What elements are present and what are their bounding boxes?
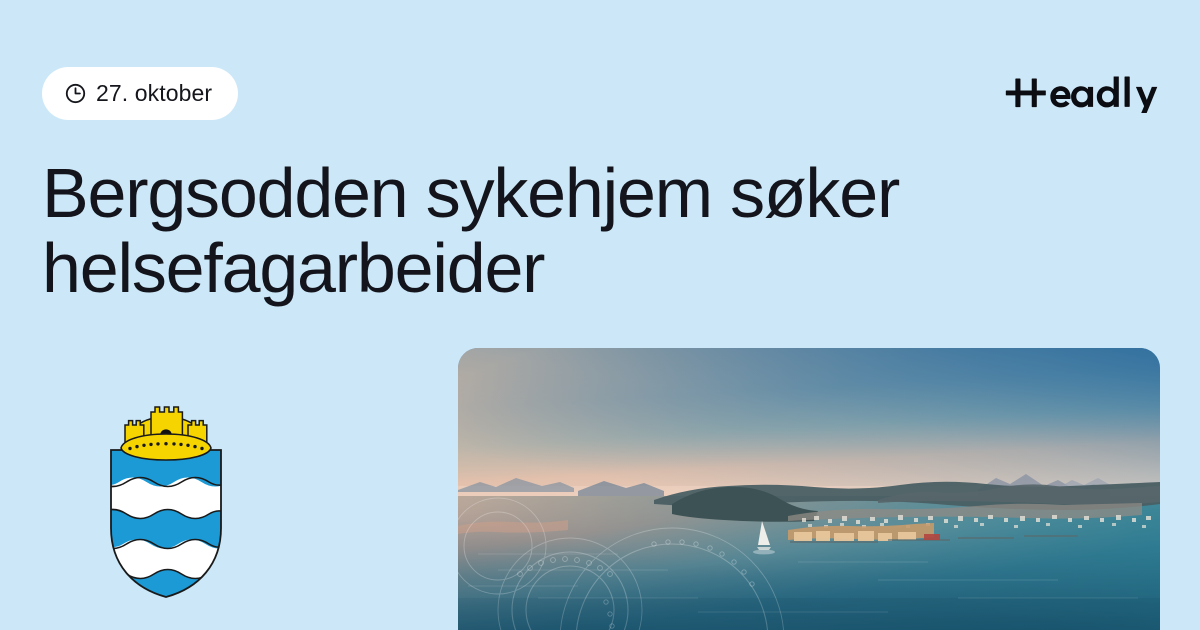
clock-icon bbox=[64, 82, 87, 105]
hero-image bbox=[458, 348, 1160, 630]
date-badge: 27. oktober bbox=[42, 67, 238, 120]
headly-wordmark-icon bbox=[1004, 73, 1160, 113]
date-label: 27. oktober bbox=[96, 82, 212, 105]
social-share-card: 27. oktober Bergsodden sykehjem søk bbox=[0, 0, 1200, 630]
coat-of-arms bbox=[103, 398, 229, 604]
headly-logo[interactable] bbox=[1004, 71, 1160, 115]
page-title: Bergsodden sykehjem søker helsefagarbeid… bbox=[42, 156, 1082, 306]
harstad-coat-of-arms-icon bbox=[103, 398, 229, 604]
coastal-town-sunset-aerial-icon bbox=[458, 348, 1160, 630]
card-header: 27. oktober bbox=[42, 66, 1160, 120]
mural-crown-icon bbox=[121, 407, 211, 460]
